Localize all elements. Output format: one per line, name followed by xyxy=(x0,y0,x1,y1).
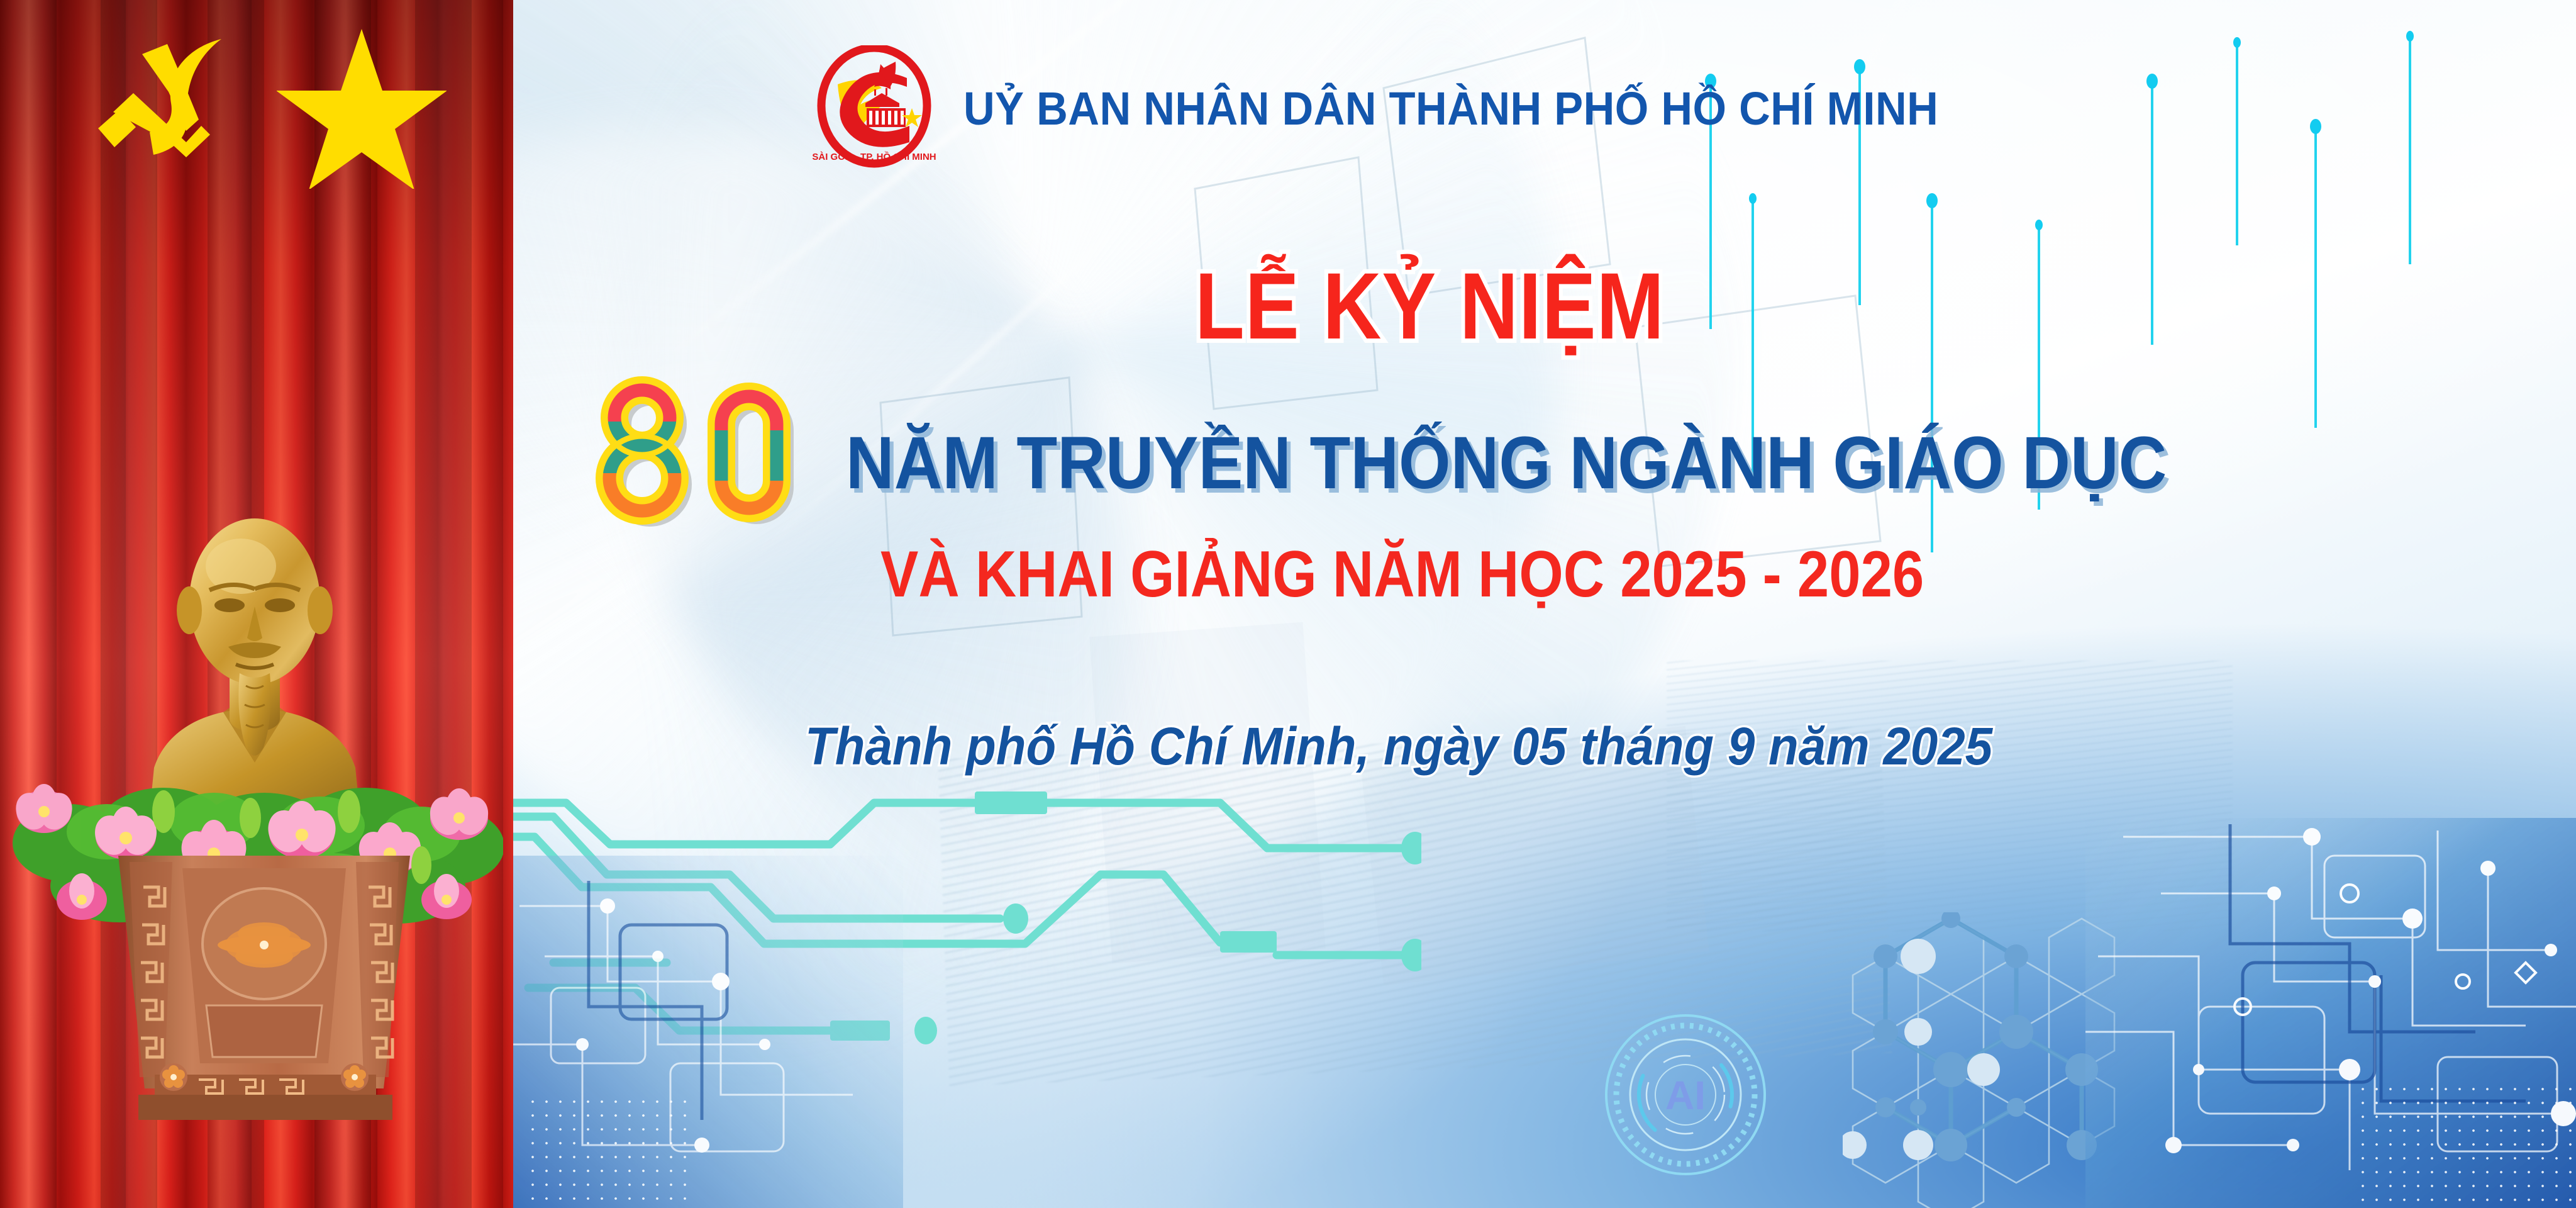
hammer-and-sickle-icon xyxy=(75,30,264,181)
red-curtain-panel xyxy=(0,0,513,1208)
header-row: SÀI GÒN - TP. HỒ CHÍ MINH UỶ BAN NHÂN DÂ… xyxy=(811,45,2012,171)
ai-badge-label: AI xyxy=(1665,1073,1706,1118)
date-line: Thành phố Hồ Chí Minh, ngày 05 tháng 9 n… xyxy=(805,716,1992,777)
cyan-pin-line xyxy=(2409,38,2411,264)
cyan-pin-line xyxy=(2236,44,2238,245)
ho-chi-minh-memorial xyxy=(0,478,513,1208)
celebration-banner: AI xyxy=(0,0,2576,1208)
organization-name: UỶ BAN NHÂN DÂN THÀNH PHỐ HỒ CHÍ MINH xyxy=(963,82,1938,135)
yellow-star-icon xyxy=(277,25,447,189)
title-line-2: NĂM TRUYỀN THỐNG NGÀNH GIÁO DỤC xyxy=(846,420,2167,506)
cyan-pin-line xyxy=(2314,126,2317,428)
title-line-3: VÀ KHAI GIẢNG NĂM HỌC 2025 - 2026 xyxy=(880,537,1924,612)
logo-caption: SÀI GÒN - TP. HỒ CHÍ MINH xyxy=(812,151,936,162)
circuit-board-left xyxy=(513,856,903,1208)
cyan-pin-line xyxy=(2151,81,2153,345)
bronze-pedestal xyxy=(94,856,434,1120)
title-line-1: LỄ KỶ NIỆM xyxy=(1195,252,1665,361)
circuit-board-right xyxy=(2085,818,2576,1208)
ai-badge: AI xyxy=(1601,1010,1770,1180)
hcmc-peoples-committee-logo: SÀI GÒN - TP. HỒ CHÍ MINH xyxy=(811,45,937,171)
anniversary-number-80: 80 xyxy=(594,372,808,530)
